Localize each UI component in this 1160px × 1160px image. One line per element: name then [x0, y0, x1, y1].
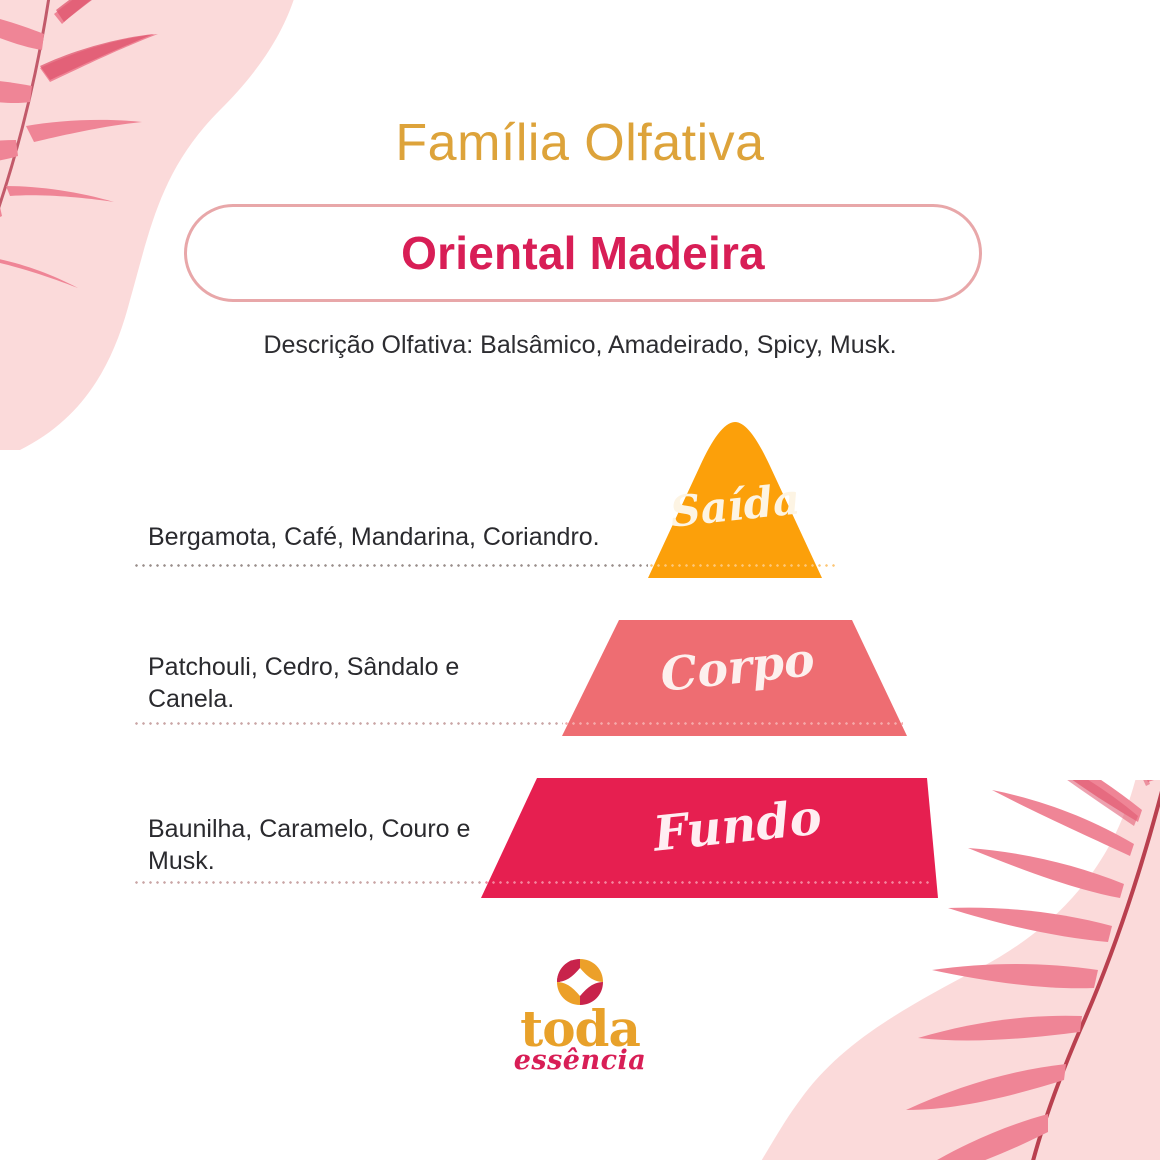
divider-fundo-left [133, 881, 483, 884]
poster-canvas: Família Olfativa Oriental Madeira Descri… [0, 0, 1160, 1160]
divider-corpo-right [563, 722, 903, 725]
divider-saida-left [133, 564, 648, 567]
notes-fundo: Baunilha, Caramelo, Couro e Musk. [148, 813, 568, 877]
divider-corpo-left [133, 722, 563, 725]
logo-submark: essência [496, 1045, 664, 1076]
notes-saida: Bergamota, Café, Mandarina, Coriandro. [148, 521, 668, 553]
divider-saida-right [648, 564, 836, 567]
notes-corpo: Patchouli, Cedro, Sândalo e Canela. [148, 651, 568, 715]
divider-fundo-right [483, 881, 933, 884]
brand-logo: toda essência [496, 955, 664, 1080]
